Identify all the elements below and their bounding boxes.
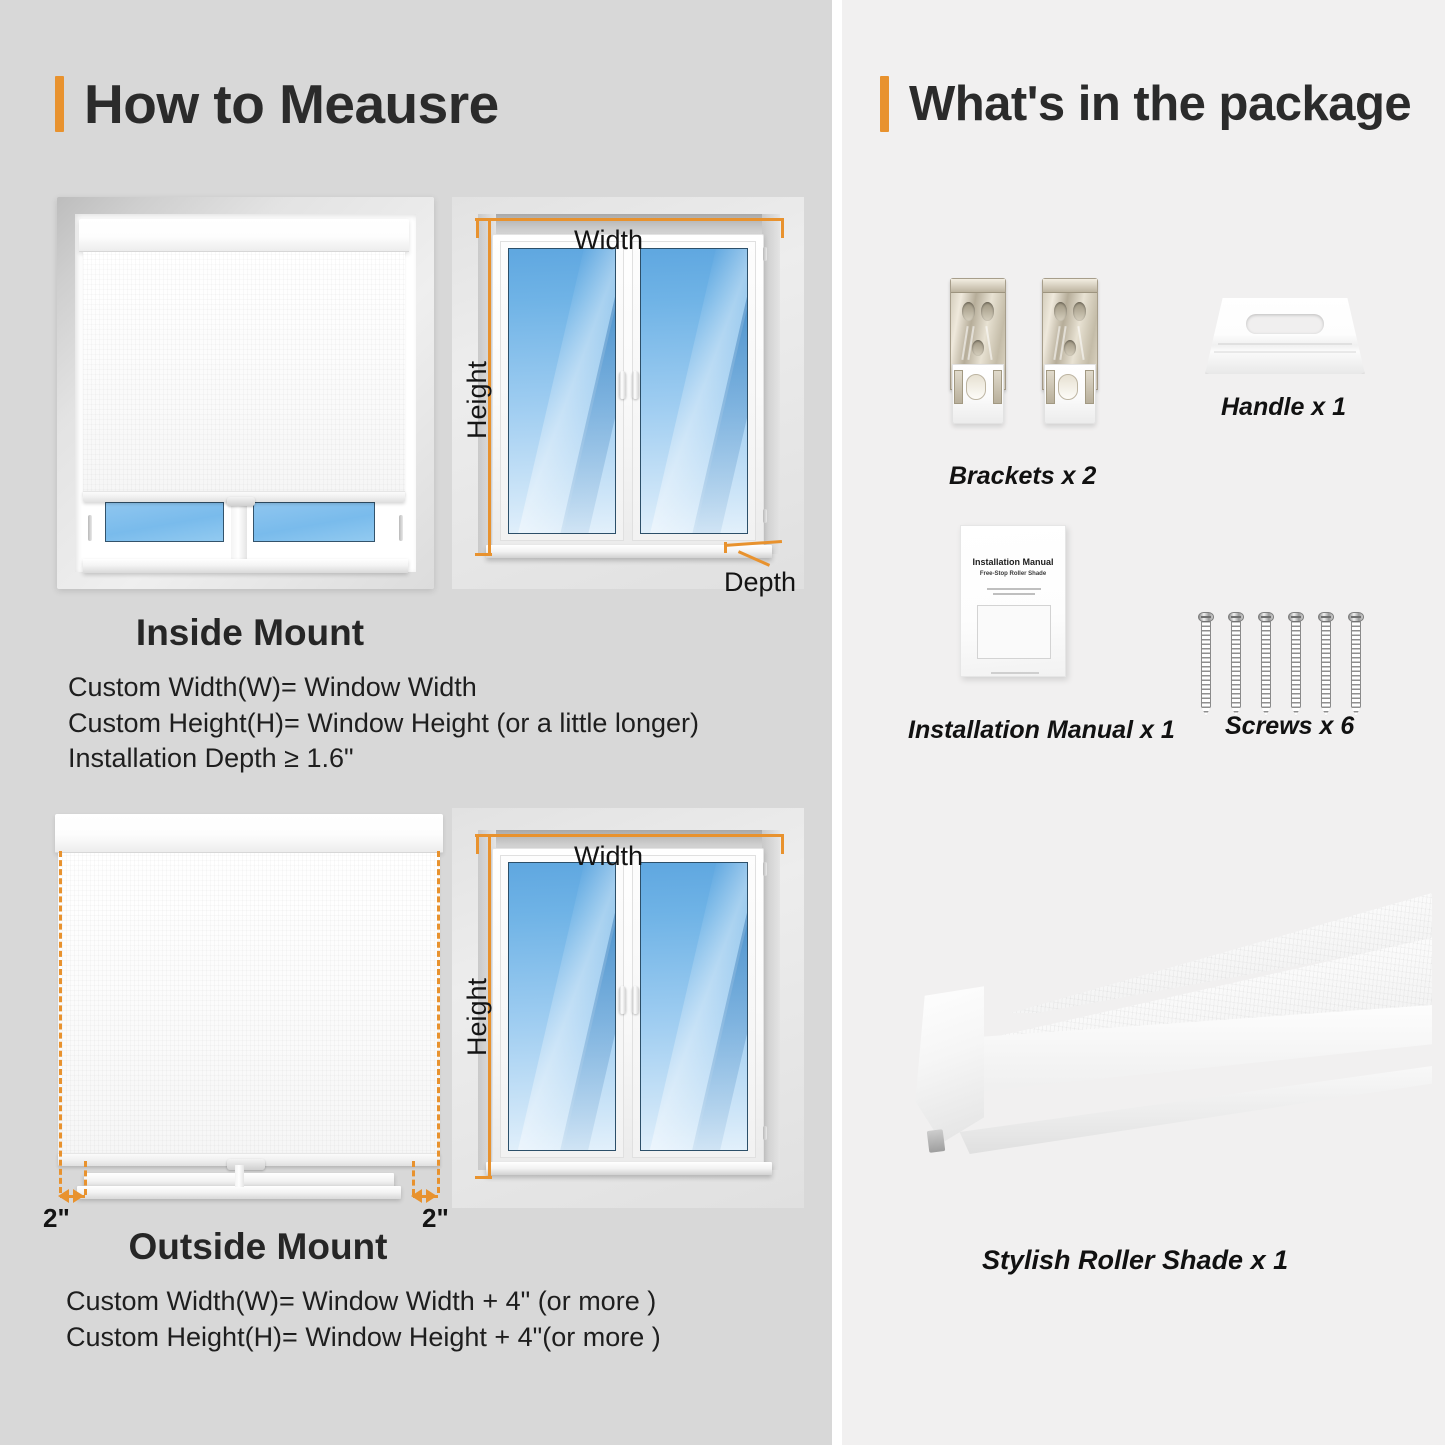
overhang-guide-left bbox=[59, 851, 62, 1193]
wall-anchor-icon bbox=[1319, 527, 1334, 595]
outside-mount-line-1: Custom Width(W)= Window Width + 4" (or m… bbox=[66, 1284, 661, 1320]
manual-cover-subtitle: Free-Stop Roller Shade bbox=[961, 571, 1065, 577]
how-to-measure-heading: How to Meausre bbox=[55, 76, 499, 132]
screw-icon bbox=[1348, 612, 1364, 716]
screw-icon bbox=[1228, 612, 1244, 716]
package-heading: What's in the package bbox=[880, 76, 1411, 132]
accent-bar-icon bbox=[880, 76, 889, 132]
overhang-guide-right bbox=[437, 851, 440, 1193]
width-measure-line bbox=[476, 834, 784, 837]
handle-icon bbox=[1205, 298, 1365, 374]
manual-label: Installation Manual x 1 bbox=[908, 716, 1175, 745]
overhang-left-label: 2" bbox=[43, 1203, 70, 1234]
handle-label: Handle x 1 bbox=[1221, 393, 1346, 422]
wall-anchor-icon bbox=[1229, 527, 1244, 595]
outside-mount-title: Outside Mount bbox=[118, 1226, 398, 1268]
outside-mount-line-2: Custom Height(H)= Window Height + 4"(or … bbox=[66, 1320, 661, 1356]
accent-bar-icon bbox=[55, 76, 64, 132]
screw-icon bbox=[1288, 612, 1304, 716]
how-to-measure-title: How to Meausre bbox=[84, 77, 499, 132]
inside-mount-description: Custom Width(W)= Window Width Custom Hei… bbox=[68, 670, 699, 777]
bracket-icon bbox=[1042, 278, 1098, 428]
panel-divider bbox=[832, 0, 842, 1445]
manual-cover-title: Installation Manual bbox=[961, 557, 1065, 567]
how-to-measure-panel: How to Meausre bbox=[0, 0, 832, 1445]
depth-label: Depth bbox=[724, 567, 796, 598]
inside-mount-title: Inside Mount bbox=[130, 612, 370, 654]
screws-label: Screws x 6 bbox=[1225, 712, 1354, 741]
inside-mount-shade-illustration bbox=[57, 197, 434, 589]
brackets-label: Brackets x 2 bbox=[949, 462, 1096, 491]
wall-anchor-icon bbox=[1289, 527, 1304, 595]
package-title: What's in the package bbox=[909, 80, 1411, 129]
width-label: Width bbox=[574, 225, 643, 256]
screw-icon bbox=[1258, 612, 1274, 716]
height-label: Height bbox=[462, 978, 493, 1056]
inside-mount-window-diagram: Width Height Depth bbox=[452, 197, 804, 589]
wall-anchor-icon bbox=[1349, 527, 1364, 595]
roller-shade-icon bbox=[872, 885, 1432, 1205]
inside-mount-line-1: Custom Width(W)= Window Width bbox=[68, 670, 699, 706]
height-label: Height bbox=[462, 361, 493, 439]
package-contents-panel: What's in the package bbox=[842, 0, 1445, 1445]
inside-mount-line-2: Custom Height(H)= Window Height (or a li… bbox=[68, 706, 699, 742]
inside-mount-line-3: Installation Depth ≥ 1.6" bbox=[68, 741, 699, 777]
wall-anchor-icon bbox=[1199, 527, 1214, 595]
screw-icon bbox=[1318, 612, 1334, 716]
wall-anchor-icon bbox=[1259, 527, 1274, 595]
manual-icon: Installation Manual Free-Stop Roller Sha… bbox=[960, 525, 1066, 677]
width-label: Width bbox=[574, 841, 643, 872]
screws-item bbox=[1194, 527, 1384, 707]
outside-mount-description: Custom Width(W)= Window Width + 4" (or m… bbox=[66, 1284, 661, 1355]
overhang-right-label: 2" bbox=[422, 1203, 449, 1234]
outside-mount-shade-illustration: 2" 2" bbox=[22, 805, 450, 1220]
width-measure-line bbox=[476, 218, 784, 221]
roller-shade-label: Stylish Roller Shade x 1 bbox=[982, 1245, 1288, 1276]
screw-icon bbox=[1198, 612, 1214, 716]
outside-mount-window-diagram: Width Height bbox=[452, 808, 804, 1208]
infographic-page: How to Meausre bbox=[0, 0, 1445, 1445]
manual-item: Installation Manual Free-Stop Roller Sha… bbox=[960, 525, 1090, 695]
bracket-icon bbox=[950, 278, 1006, 428]
